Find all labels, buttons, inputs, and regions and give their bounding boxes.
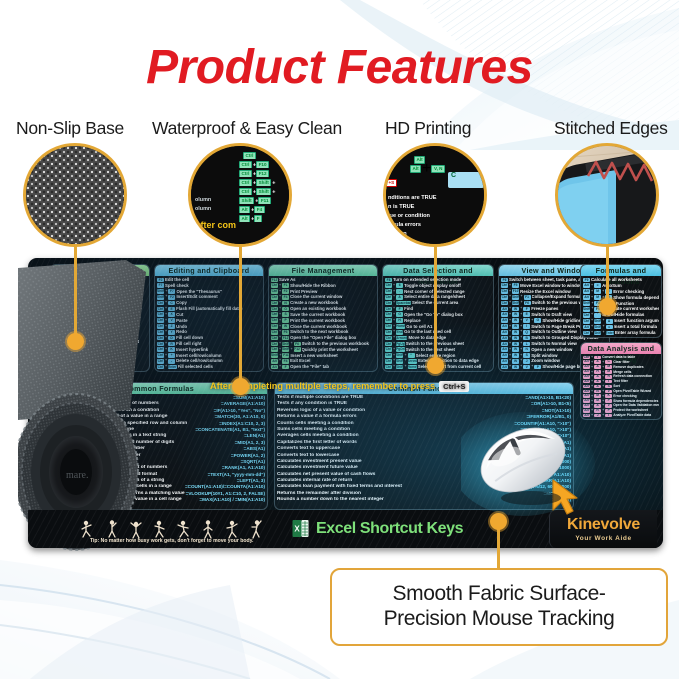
callout-circle-stitched-edges (555, 143, 659, 247)
key-chip: L (523, 342, 530, 347)
key-chip: Shift (157, 289, 164, 294)
key-chip: Shift (594, 319, 601, 324)
connector-dot-hd-printing (427, 357, 444, 374)
key-chip: Ctrl (385, 307, 392, 312)
key-chip: Arrow (408, 359, 418, 364)
key-chip: A (594, 375, 601, 379)
key-chip: F12 (294, 347, 301, 352)
key-chip: B (523, 336, 530, 341)
key-chip: Ctrl (271, 324, 278, 329)
key-chip: Z (168, 324, 175, 329)
key-chip: Ctrl (501, 289, 508, 294)
key-chip: Shift (282, 347, 289, 352)
key-chip: S (282, 312, 289, 317)
panel-header: File Management (269, 265, 377, 276)
connector-dot-non-slip (67, 333, 84, 350)
key-chip: D (168, 336, 175, 341)
key-chip: V (523, 365, 530, 370)
mousepad-photo: Ribbon and OperationsCtrl+1Open the "For… (18, 258, 663, 554)
key-chip: K (168, 347, 175, 352)
shortcut-row: Ctrl+Shift+EnterEnter array formula (582, 330, 660, 336)
key-chip: Alt (583, 289, 590, 294)
key-chip: Ctrl (385, 342, 392, 347)
key-chip: Alt (501, 330, 508, 335)
shortcut-row: Ctrl+EnterFill selected cells (156, 364, 262, 370)
key-chip: S (523, 353, 530, 358)
key-chip: Ctrl (385, 301, 392, 306)
key-chip: W (282, 324, 289, 329)
key-chip: I (523, 324, 530, 329)
closeup-footer-text: umbers (195, 237, 213, 243)
connector-dot-stitched-edges (599, 298, 616, 315)
key-chip: Shift (512, 301, 519, 306)
panel-header: Data Selection and Navigation (383, 265, 493, 276)
key-chip: F2 (168, 295, 175, 300)
key-chip: Shift (583, 307, 590, 312)
key-chip: F5 (512, 283, 519, 288)
key-chip: Alt (501, 312, 508, 317)
key-chip: M (594, 295, 601, 300)
key-chip: F (523, 307, 530, 312)
key-chip: Shift (282, 342, 289, 347)
key-chip: Ctrl (271, 295, 278, 300)
key-chip: Q (523, 330, 530, 335)
key-chip: Ctrl (157, 324, 164, 329)
connector-waterproof (239, 245, 242, 383)
shortcut-description: Enter array formula (615, 330, 659, 336)
key-chip: Ctrl (385, 353, 392, 358)
footer-tip-text: Tip: No matter how busy work gets, don't… (90, 538, 253, 544)
key-chip: R (605, 375, 612, 379)
key-chip: Ctrl (157, 342, 164, 347)
key-chip: Ctrl (385, 324, 392, 329)
key-chip: . (396, 289, 403, 294)
key-chip: F7 (157, 283, 164, 288)
excel-icon: X (292, 519, 309, 539)
key-chip: End (396, 330, 403, 335)
key-chip: F7 (168, 289, 175, 294)
key-chip: Ctrl (157, 353, 164, 358)
stick-figure-icon (80, 519, 96, 539)
key-chip: Ctrl (271, 336, 278, 341)
key-chip: Shift (583, 301, 590, 306)
caption-line-1: Smooth Fabric Surface- (393, 582, 606, 607)
key-chip: Ctrl (157, 312, 164, 317)
key-chip: Alt (583, 283, 590, 288)
key-chip: Home (408, 365, 417, 370)
key-chip: N (282, 301, 289, 306)
key-chip: N (594, 390, 601, 394)
key-chip: Ctrl (157, 301, 164, 306)
callout-circle-waterproof: Ctrl Ctrl+F10 Ctrl+F12 Ctrl+Shift+ Ctrl+… (188, 143, 292, 247)
key-chip: A (594, 365, 601, 369)
key-chip: C (605, 360, 612, 364)
key-chip: Alt (501, 365, 508, 370)
key-chip: P (534, 365, 541, 370)
key-chip: F1 (282, 283, 289, 288)
rolled-mousepad-end: mare. (18, 260, 146, 552)
key-chip: A (606, 319, 613, 324)
key-chip: T (594, 356, 601, 360)
key-chip: F2 (282, 289, 289, 294)
key-chip: Ctrl (583, 313, 590, 318)
key-chip: V (168, 318, 175, 323)
key-chip: Ctrl (501, 283, 508, 288)
plus-sign: + (165, 364, 167, 370)
key-chip: Ctrl (271, 289, 278, 294)
key-chip: F (282, 365, 289, 370)
shortcut-description: Analyze PivotTable data (613, 413, 659, 418)
stick-figure-icon (176, 519, 192, 539)
stick-figure-icon (104, 519, 120, 539)
key-chip: Shift (396, 359, 403, 364)
key-chip: M (605, 370, 612, 374)
shortcut-row: Alt+FOpen the "File" tab (270, 364, 376, 370)
key-chip: Ctrl (157, 347, 164, 352)
key-chip: Ctrl (157, 318, 164, 323)
key-chip: PgDn (396, 347, 405, 352)
panel-rows: F2Edit the cellF7Spell checkShift+F7Open… (156, 277, 262, 370)
plus-sign: + (591, 330, 593, 336)
key-chip: A (594, 380, 601, 384)
stretch-exercise-figures (80, 519, 264, 539)
brand-tagline: Your Work Aide (575, 535, 631, 542)
key-chip: K (605, 394, 612, 398)
key-chip: Alt (583, 360, 590, 364)
key-chip: Ctrl (271, 283, 278, 288)
panel-file-management: File ManagementF12Save AsCtrl+F1Show/Hid… (268, 264, 378, 372)
key-chip: Y (168, 330, 175, 335)
key-chip: V (523, 318, 530, 323)
key-chip: Ctrl (271, 347, 278, 352)
key-chip: Alt (271, 365, 278, 370)
key-chip: Ctrl (385, 295, 392, 300)
panel-header: Formulas and Functions (581, 265, 661, 276)
key-chip: F4 (282, 359, 289, 364)
key-chip: Ctrl (385, 365, 392, 370)
caption-line-2: Precision Mouse Tracking (384, 607, 615, 632)
feature-label-non-slip-base: Non-Slip Base (16, 118, 124, 139)
key-chip: F6 (501, 278, 508, 283)
key-chip: Shift (396, 353, 403, 358)
stick-figure-icon (152, 519, 168, 539)
key-chip: Shift (157, 295, 164, 300)
key-chip: G (396, 312, 403, 317)
key-chip: Alt (583, 375, 590, 379)
stick-figure-icon (200, 519, 216, 539)
key-chip: Ctrl (583, 356, 590, 360)
plus-sign: + (509, 364, 511, 370)
key-chip: F (396, 307, 403, 312)
connector-dot-caption (490, 513, 507, 530)
plus-sign: + (531, 364, 533, 370)
key-chip: F12 (271, 278, 278, 283)
shortcut-description: Open the "File" tab (290, 364, 375, 370)
key-chip: Shift (594, 325, 601, 330)
key-chip: Ctrl (385, 312, 392, 317)
panel-rows: F8Turn on extended selection modeCtrl+6T… (384, 277, 492, 370)
key-chip: F2 (157, 278, 164, 283)
key-chip: F1 (524, 295, 531, 300)
key-chip: F12 (282, 336, 289, 341)
key-chip: Ctrl (271, 312, 278, 317)
key-chip: W (512, 307, 519, 312)
key-chip: Alt (501, 324, 508, 329)
svg-text:X: X (294, 525, 300, 534)
svg-text:mare.: mare. (66, 470, 89, 481)
key-chip: Spacebar (396, 301, 411, 306)
key-chip: - (168, 359, 175, 364)
shortcut-sheet-macro-hd: Alt Alt+V, N +S C nditions are TRUE n is… (386, 146, 484, 244)
key-chip: F8 (385, 278, 392, 283)
panel-data-selection-and-navigation: Data Selection and NavigationF8Turn on e… (382, 264, 494, 372)
connector-stitched-edges (606, 245, 609, 305)
key-chip: F6 (294, 342, 301, 347)
closeup-band-text: After com (191, 219, 289, 232)
key-chip: G (534, 318, 541, 323)
computer-mouse (461, 402, 611, 522)
panel-editing-and-clipboard: Editing and ClipboardF2Edit the cellF7Sp… (154, 264, 264, 372)
key-chip: * (408, 353, 415, 358)
key-chip: Alt (583, 325, 590, 330)
key-chip: W (512, 330, 519, 335)
key-chip: Ctrl (271, 330, 278, 335)
key-chip: Alt (501, 336, 508, 341)
key-chip: W (512, 359, 519, 364)
key-chip: F9 (583, 278, 590, 283)
reminder-chip: Ctrl+S (439, 381, 469, 392)
shortcut-sheet-macro-waterproof: Ctrl Ctrl+F10 Ctrl+F12 Ctrl+Shift+ Ctrl+… (191, 146, 289, 244)
plus-sign: + (279, 364, 281, 370)
key-chip: Shift (271, 353, 278, 358)
key-chip: PgUp (396, 342, 405, 347)
key-chip: Ctrl (385, 336, 392, 341)
callout-circle-non-slip-base (23, 143, 127, 247)
key-chip: + (168, 353, 175, 358)
key-chip: Alt (501, 318, 508, 323)
key-chip: E (168, 307, 175, 312)
key-chip: W (512, 324, 519, 329)
feature-label-hd-printing: HD Printing (385, 118, 471, 139)
connector-non-slip-lower (74, 250, 77, 338)
callout-circle-hd-printing: Alt Alt+V, N +S C nditions are TRUE n is… (383, 143, 487, 247)
plus-sign: + (602, 330, 604, 336)
plus-sign: + (393, 364, 395, 370)
key-chip: M (594, 289, 601, 294)
key-chip: Shift (396, 365, 403, 370)
key-chip: Alt (501, 353, 508, 358)
key-chip: N (523, 347, 530, 352)
key-chip: O (282, 307, 289, 312)
key-chip: W (512, 336, 519, 341)
key-chip: W (512, 318, 519, 323)
key-chip: P (282, 318, 289, 323)
plus-sign: + (404, 364, 406, 370)
key-chip: W (512, 365, 519, 370)
connector-hd-printing (434, 245, 437, 363)
key-chip: Ctrl (385, 283, 392, 288)
key-chip: Alt (583, 390, 590, 394)
key-chip: M (594, 394, 601, 398)
key-chip: Enter (606, 331, 614, 336)
key-chip: Alt (501, 342, 508, 347)
key-chip: J (523, 359, 530, 364)
key-chip: Ctrl (385, 318, 392, 323)
key-chip: Alt (501, 307, 508, 312)
page-title: Product Features (0, 40, 679, 95)
key-chip: W (512, 342, 519, 347)
key-chip: A (396, 295, 403, 300)
rubber-dot-texture (26, 146, 124, 244)
key-chip: Ctrl (385, 289, 392, 294)
key-chip: Ctrl (583, 319, 590, 324)
stick-figure-icon (248, 519, 264, 539)
key-chip: = (606, 325, 613, 330)
key-chip: H (396, 318, 403, 323)
key-chip: Alt (583, 394, 590, 398)
stick-figure-icon (224, 519, 240, 539)
key-chip: Alt (501, 359, 508, 364)
key-chip: T (605, 380, 612, 384)
key-chip: R (168, 342, 175, 347)
key-chip: Ctrl (385, 347, 392, 352)
key-chip: Ctrl (271, 301, 278, 306)
key-chip: W (512, 347, 519, 352)
key-chip: Home (396, 324, 405, 329)
excel-shortcut-keys-title: Excel Shortcut Keys (316, 520, 463, 538)
key-chip: Ctrl (157, 359, 164, 364)
stitched-edge-macro (558, 146, 656, 244)
key-chip: Alt (583, 295, 590, 300)
key-chip: M (605, 365, 612, 369)
key-chip: Alt (583, 370, 590, 374)
key-chip: Ctrl (501, 301, 508, 306)
panel-rows: F9Calculate all worksheetsAlt+=AutoSumAl… (582, 277, 660, 336)
key-chip: A (594, 385, 601, 389)
key-chip: Ctrl (385, 359, 392, 364)
key-chip: = (594, 283, 601, 288)
key-chip: Alt (583, 385, 590, 389)
key-chip: F10 (512, 289, 519, 294)
key-chip: Alt (501, 347, 508, 352)
feature-label-stitched-edges: Stitched Edges (554, 118, 668, 139)
formula-text: =MAX(A1:A10) / =MIN(A1:A10) (199, 497, 265, 503)
connector-dot-waterproof (232, 378, 249, 395)
key-chip: C (168, 301, 175, 306)
feature-label-waterproof: Waterproof & Easy Clean (152, 118, 342, 139)
key-chip: A (594, 360, 601, 364)
panel-rows: F12Save AsCtrl+F1Show/Hide the RibbonCtr… (270, 277, 376, 370)
panel-formulas-and-functions: Formulas and FunctionsF9Calculate all wo… (580, 264, 662, 338)
key-chip: S (605, 385, 612, 389)
key-chip: ` (594, 313, 601, 318)
key-chip: F11 (282, 353, 289, 358)
key-chip: Ctrl (385, 330, 392, 335)
key-chip: 6 (396, 283, 403, 288)
key-chip: Alt (583, 365, 590, 369)
key-chip: Ctrl (157, 336, 164, 341)
key-chip: F6 (282, 330, 289, 335)
key-chip: Ctrl (157, 307, 164, 312)
key-chip: Alt (271, 359, 278, 364)
key-chip: E (523, 312, 530, 317)
key-chip: W (512, 312, 519, 317)
key-chip: X (168, 312, 175, 317)
key-chip: Shift (512, 295, 519, 300)
key-chip: Ctrl (271, 318, 278, 323)
panel-header: Data Analysis and Filtering (581, 343, 661, 354)
key-chip: W (512, 353, 519, 358)
shortcut-description: Fill selected cells (178, 364, 261, 370)
key-chip: F4 (282, 295, 289, 300)
key-chip: V (605, 390, 612, 394)
panel-header: Editing and Clipboard (155, 265, 263, 276)
key-chip: H (594, 370, 601, 374)
key-chip: Ctrl (583, 331, 590, 336)
caption-box: Smooth Fabric Surface- Precision Mouse T… (330, 568, 668, 646)
plus-sign: + (520, 364, 522, 370)
key-chip: Arrows (396, 336, 407, 341)
key-chip: Ctrl (501, 295, 508, 300)
excel-branding: X Excel Shortcut Keys (292, 519, 463, 539)
stick-figure-icon (128, 519, 144, 539)
key-chip: Enter (168, 365, 176, 370)
key-chip: Ctrl (157, 365, 164, 370)
key-chip: Alt (583, 380, 590, 384)
key-chip: F6 (524, 301, 531, 306)
key-chip: Ctrl (271, 307, 278, 312)
key-chip: Ctrl (157, 330, 164, 335)
key-chip: Ctrl (271, 342, 278, 347)
infographic-canvas: Product Features Non-Slip Base Waterproo… (0, 0, 679, 679)
key-chip: Shift (594, 331, 601, 336)
